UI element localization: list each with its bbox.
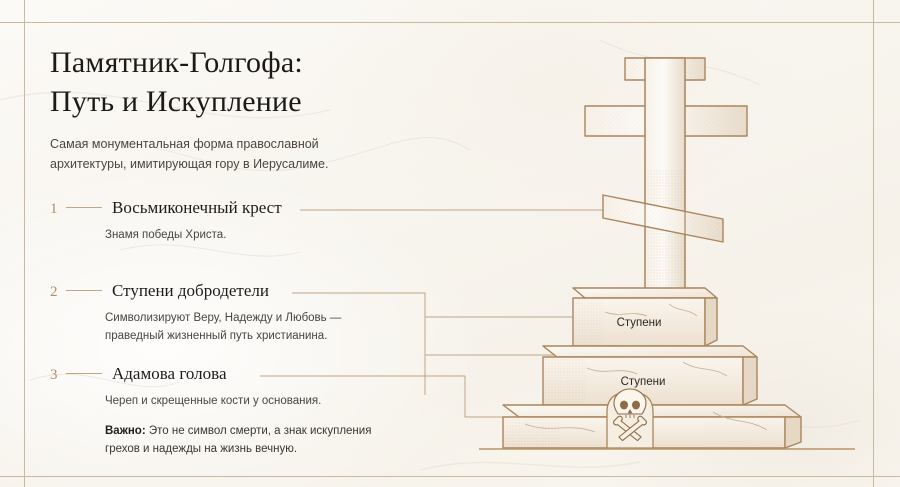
legend-item-3-note-label: Важно: [105,425,146,437]
legend-item-3-desc-line-1: Череп и скрещенные кости у основания. [105,393,405,411]
skull-and-crossbones-emblem [607,389,653,448]
monument-illustration: Ступени Ступени [455,20,875,465]
legend-item-1-desc-line-1: Знамя победы Христа. [105,227,405,245]
legend-item-3-number: 3 [50,367,66,384]
legend-item-3-head: 3 Адамова голова [50,364,450,386]
legend-item-2-head: 2 Ступени добродетели [50,281,450,303]
page-title-line-1: Памятник-Голгофа: [50,44,450,83]
infographic-page: Памятник-Голгофа: Путь и Искупление Сама… [0,0,900,487]
legend-item-3-note-line-2: грехов и надежды на жизнь вечную. [105,443,297,455]
page-subtitle-line-2: архитектуры, имитирующая гору в Иерусали… [50,155,360,175]
legend-item-2-number: 2 [50,284,66,301]
legend-item-2-desc-line-2: праведный жизненный путь христианина. [105,328,405,346]
legend-item-1-description: Знамя победы Христа. [105,227,405,245]
legend-item-2-desc-line-1: Символизируют Веру, Надежду и Любовь — [105,310,405,328]
legend-item-1-title: Восьмиконечный крест [112,198,282,218]
page-subtitle-line-1: Самая монументальная форма православной [50,135,360,155]
orthodox-cross [585,58,747,298]
page-title: Памятник-Голгофа: Путь и Искупление [50,44,450,121]
legend-item-1-number: 1 [50,201,66,218]
legend-item-3-dash [66,373,102,374]
header-block: Памятник-Голгофа: Путь и Искупление Сама… [50,44,450,175]
legend-item-1-dash [66,207,102,208]
step-label-middle: Ступени [621,376,666,388]
frame-rule-bottom [0,476,900,477]
legend-item-3-title: Адамова голова [112,364,226,384]
step-label-upper: Ступени [617,317,662,329]
legend-item-3-note: Важно: Это не символ смерти, а знак иску… [105,423,405,459]
legend-item-1-head: 1 Восьмиконечный крест [50,198,450,220]
legend-item-3-description: Череп и скрещенные кости у основания. [105,393,405,411]
page-title-line-2: Путь и Искупление [50,83,450,122]
legend-item-3: 3 Адамова голова Череп и скрещенные кост… [50,364,450,458]
legend-item-2: 2 Ступени добродетели Символизируют Веру… [50,281,450,346]
legend-item-2-dash [66,290,102,291]
legend-item-3-note-line-1: Это не символ смерти, а знак искупления [146,425,372,437]
legend-item-2-description: Символизируют Веру, Надежду и Любовь — п… [105,310,405,346]
legend-item-2-title: Ступени добродетели [112,281,269,301]
page-subtitle: Самая монументальная форма православной … [50,135,360,175]
frame-rule-left [24,0,25,487]
legend-item-1: 1 Восьмиконечный крест Знамя победы Хрис… [50,198,450,245]
